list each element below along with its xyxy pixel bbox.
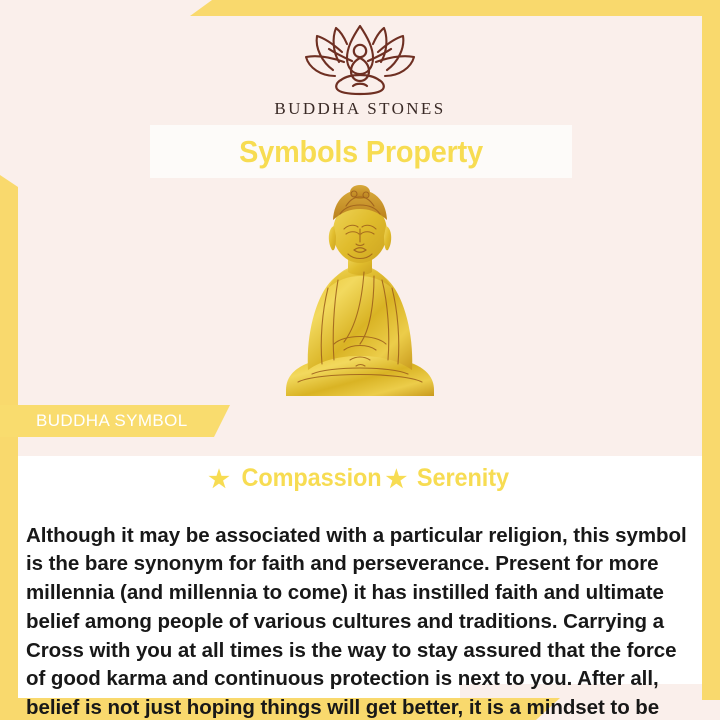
page-title: Symbols Property xyxy=(239,134,483,170)
description-paragraph: Although it may be associated with a par… xyxy=(26,522,694,720)
title-banner: Symbols Property xyxy=(150,125,572,178)
brand-logo: BUDDHA STONES xyxy=(0,24,720,119)
keyword-serenity: Serenity xyxy=(417,464,509,493)
decorative-band-top xyxy=(190,0,720,16)
category-badge: BUDDHA SYMBOL xyxy=(0,405,230,437)
seated-golden-buddha-statue-icon xyxy=(278,184,442,400)
brand-name: BUDDHA STONES xyxy=(0,99,720,119)
keywords-headline: ★ Compassion★ Serenity xyxy=(0,464,720,493)
star-icon: ★ xyxy=(386,466,407,493)
lotus-meditation-icon xyxy=(297,24,423,96)
promo-poster: BUDDHA STONES Symbols Property xyxy=(0,0,720,720)
category-badge-label: BUDDHA SYMBOL xyxy=(0,411,188,431)
star-icon: ★ xyxy=(208,466,229,493)
keyword-compassion: Compassion xyxy=(241,464,381,493)
hero-image xyxy=(0,182,720,400)
